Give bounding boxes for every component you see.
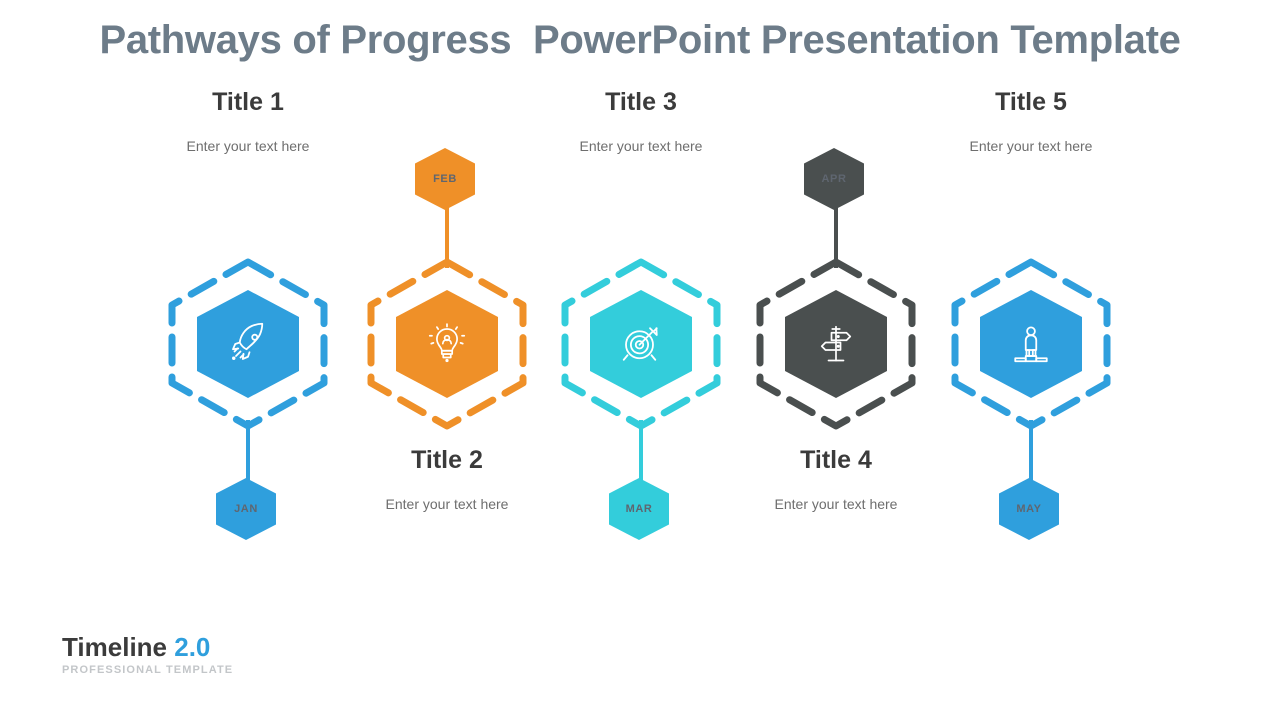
hexagon-group[interactable] bbox=[365, 258, 529, 430]
month-badge[interactable]: JAN bbox=[216, 478, 276, 540]
hexagon-group[interactable] bbox=[559, 258, 723, 430]
month-badge-label: MAR bbox=[626, 503, 653, 515]
step-title: Title 5 bbox=[901, 88, 1161, 117]
month-badge-label: JAN bbox=[234, 503, 258, 515]
target-arrow-icon bbox=[617, 320, 665, 368]
logo-name: Timeline bbox=[62, 632, 174, 662]
logo-title: Timeline 2.0 bbox=[62, 634, 233, 661]
hexagon-group[interactable] bbox=[166, 258, 330, 430]
timeline-step-5[interactable]: Title 5Enter your text hereMAY bbox=[901, 0, 1161, 560]
month-badge-label: FEB bbox=[433, 173, 457, 185]
logo-version: 2.0 bbox=[174, 632, 210, 662]
hexagon-group[interactable] bbox=[949, 258, 1113, 430]
month-badge[interactable]: FEB bbox=[415, 148, 475, 210]
month-badge[interactable]: MAR bbox=[609, 478, 669, 540]
rocket-icon bbox=[224, 320, 272, 368]
month-badge[interactable]: APR bbox=[804, 148, 864, 210]
signpost-icon bbox=[812, 320, 860, 368]
month-badge-label: APR bbox=[821, 173, 846, 185]
month-badge[interactable]: MAY bbox=[999, 478, 1059, 540]
footer-logo: Timeline 2.0 PROFESSIONAL TEMPLATE bbox=[62, 634, 233, 676]
person-podium-icon bbox=[1007, 320, 1055, 368]
logo-subtitle: PROFESSIONAL TEMPLATE bbox=[62, 664, 233, 676]
step-subtitle: Enter your text here bbox=[901, 138, 1161, 154]
hexagon-group[interactable] bbox=[754, 258, 918, 430]
lightbulb-person-icon bbox=[423, 320, 471, 368]
month-badge-label: MAY bbox=[1016, 503, 1041, 515]
